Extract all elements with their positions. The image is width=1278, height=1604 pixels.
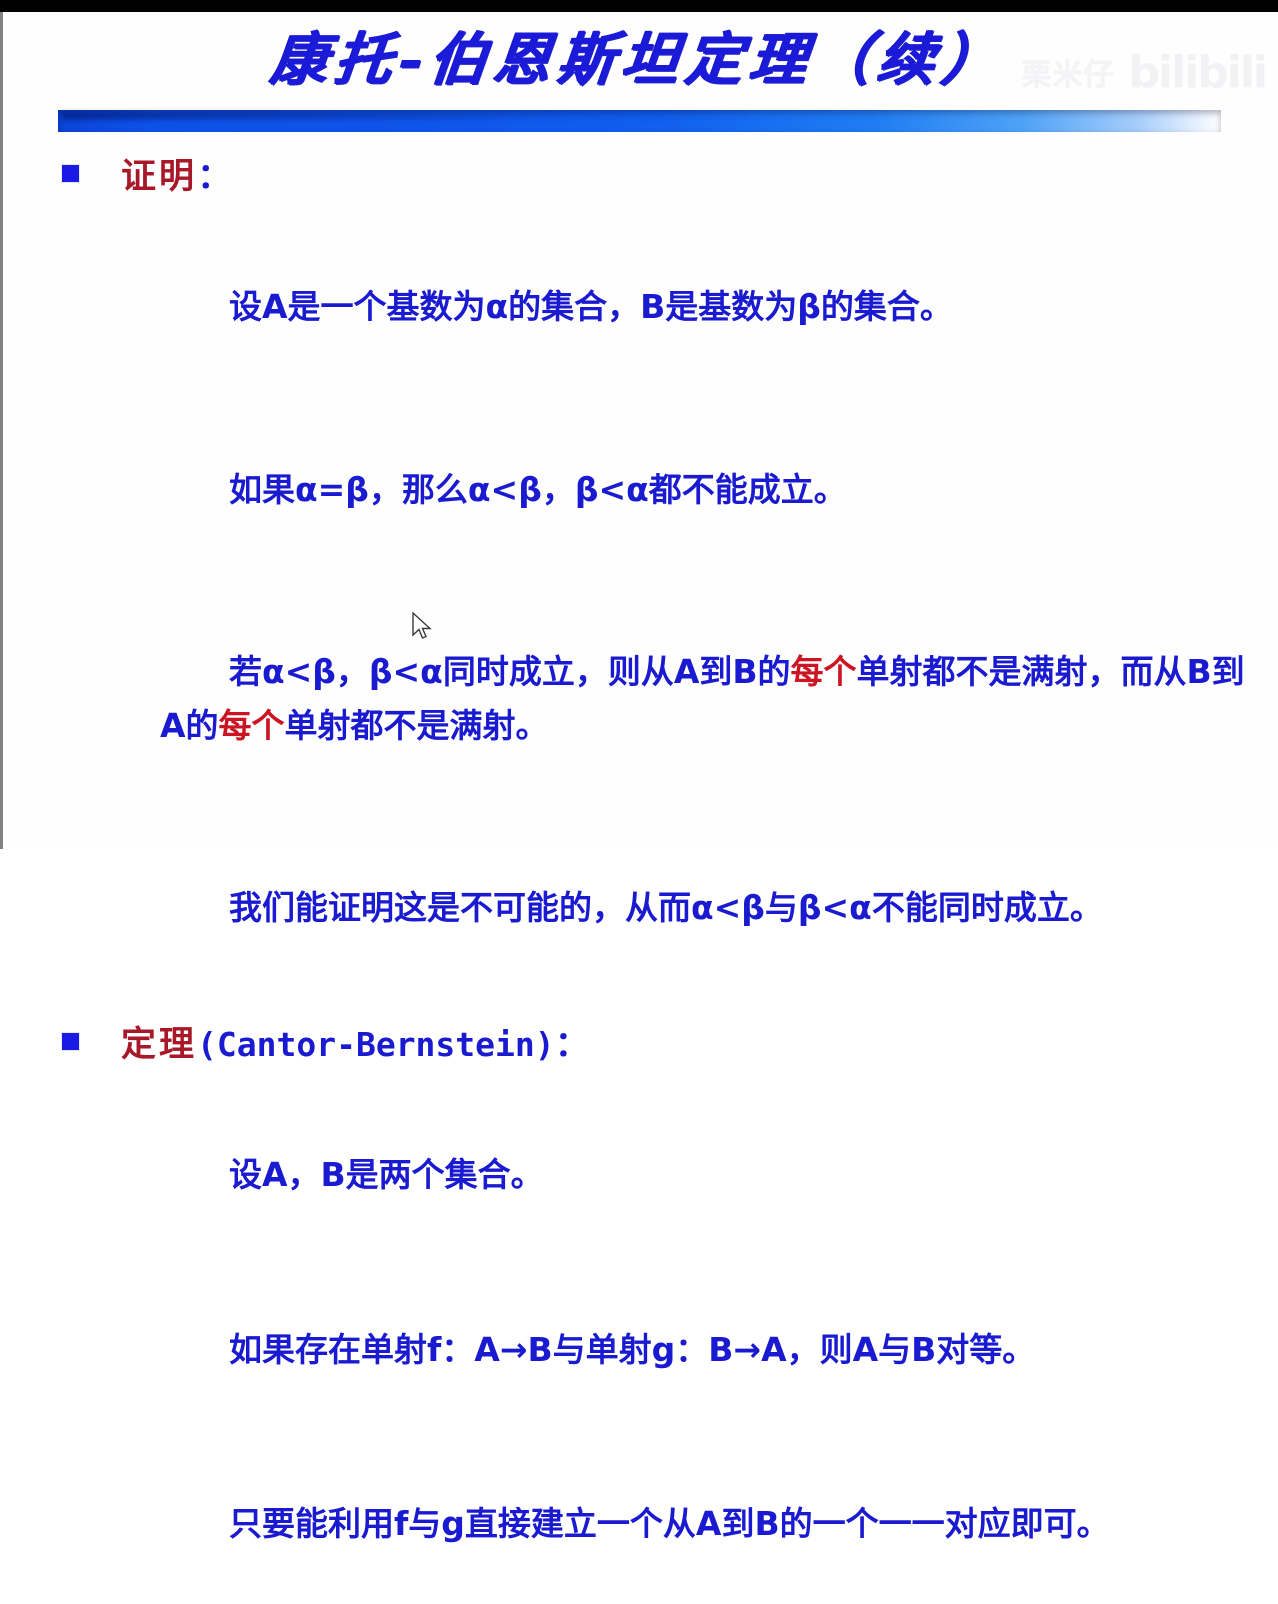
bullet-heading-theorem: 定理(Cantor-Bernstein)：	[0, 1016, 1278, 1067]
text-run: 我们能证明这是不可能的，从而α<β与β<α不能同时成立。	[229, 888, 1103, 927]
bullet-heading-label: 定理(Cantor-Bernstein)：	[121, 1016, 593, 1067]
bullet-heading-proof: 证明：	[0, 148, 1278, 199]
heading-colon: ：	[197, 156, 235, 197]
slide-canvas: 栗米仔 bilibili 康托-伯恩斯坦定理（续） 证明： 设A是一个基数为α的…	[0, 0, 1278, 849]
heading-blue-text: (Cantor-Bernstein)	[197, 1025, 555, 1064]
paragraph-theorem-1: 设A，B是两个集合。	[0, 1095, 1278, 1255]
page-title: 康托-伯恩斯坦定理（续）	[0, 14, 1278, 96]
heading-colon: ：	[555, 1024, 593, 1065]
slide-content: 证明： 设A是一个基数为α的集合，B是基数为β的集合。 如果α=β，那么α<β，…	[0, 148, 1278, 1604]
text-run-emphasis: 每个	[219, 706, 285, 745]
heading-red-text: 定理	[121, 1024, 197, 1065]
text-run: 如果存在单射f：A→B与单射g：B→A，则A与B对等。	[229, 1330, 1035, 1369]
paragraph-theorem-3: 只要能利用f与g直接建立一个从A到B的一个一一对应即可。	[0, 1444, 1278, 1604]
paragraph-proof-1: 设A是一个基数为α的集合，B是基数为β的集合。	[0, 227, 1278, 387]
bullet-heading-label: 证明：	[121, 148, 235, 199]
text-run: 只要能利用f与g直接建立一个从A到B的一个一一对应即可。	[229, 1504, 1110, 1543]
text-run: 设A，B是两个集合。	[229, 1155, 544, 1194]
square-bullet-icon	[62, 1033, 79, 1050]
paragraph-proof-4: 我们能证明这是不可能的，从而α<β与β<α不能同时成立。	[0, 828, 1278, 988]
heading-red-text: 证明	[121, 156, 197, 197]
text-run-emphasis: 每个	[791, 652, 857, 691]
text-run: 设A是一个基数为α的集合，B是基数为β的集合。	[229, 287, 953, 326]
text-run: 如果α=β，那么α<β，β<α都不能成立。	[229, 470, 847, 509]
letterbox-top-bar	[0, 0, 1278, 12]
paragraph-theorem-2: 如果存在单射f：A→B与单射g：B→A，则A与B对等。	[0, 1269, 1278, 1429]
paragraph-proof-3: 若α<β，β<α同时成立，则从A到B的每个单射都不是满射，而从B到A的每个单射都…	[0, 592, 1278, 806]
square-bullet-icon	[62, 165, 79, 182]
blue-gradient-rule-icon	[58, 110, 1221, 132]
text-run: 单射都不是满射。	[285, 706, 549, 745]
text-run: 若α<β，β<α同时成立，则从A到B的	[229, 652, 791, 691]
paragraph-proof-2: 如果α=β，那么α<β，β<α都不能成立。	[0, 409, 1278, 569]
